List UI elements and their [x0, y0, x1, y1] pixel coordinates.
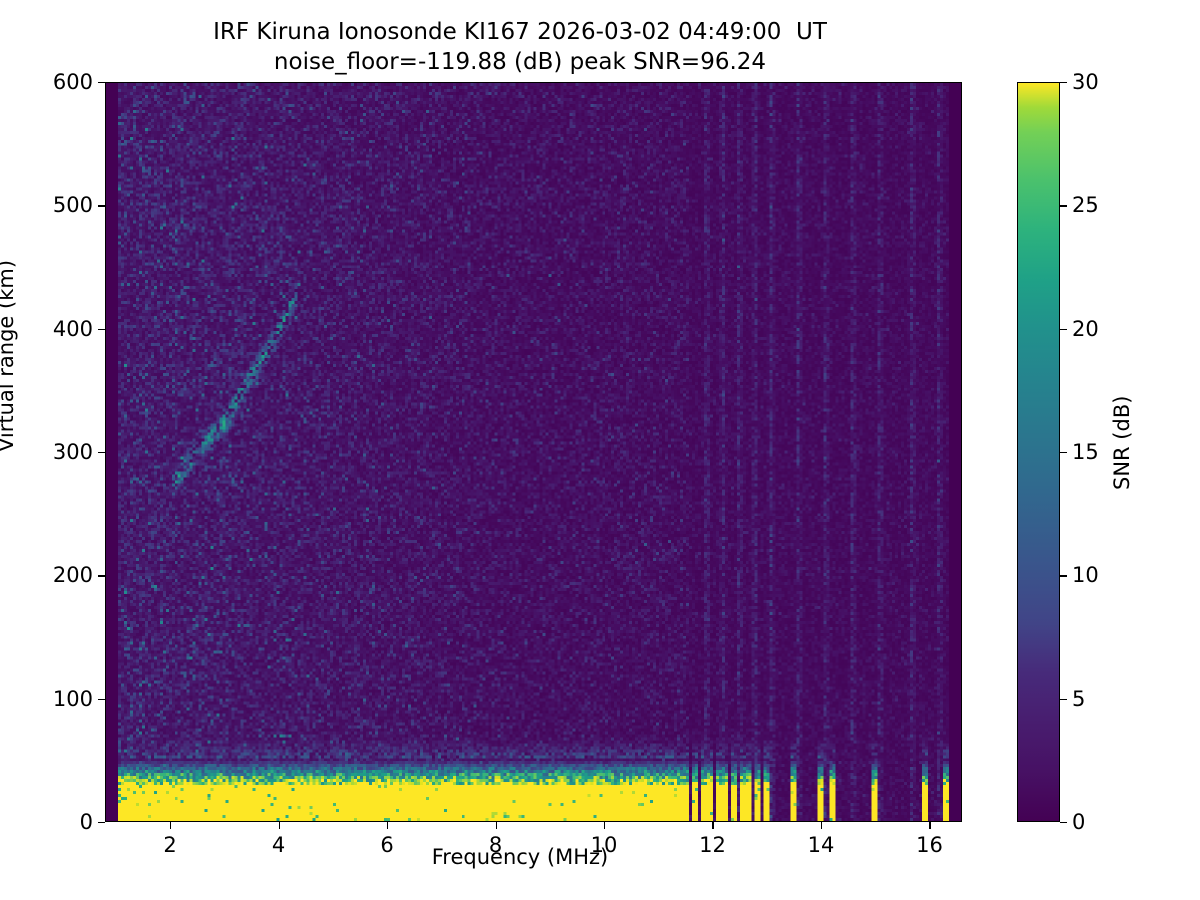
y-tick-label: 600: [53, 70, 93, 94]
colorbar: [1017, 82, 1060, 822]
y-tick-label: 500: [53, 193, 93, 217]
y-tick-mark: [98, 205, 105, 206]
chart-title-line-1: IRF Kiruna Ionosonde KI167 2026-03-02 04…: [0, 18, 1040, 48]
colorbar-tick-label: 25: [1072, 193, 1099, 217]
colorbar-tick-mark: [1060, 205, 1067, 206]
colorbar-tick-label: 5: [1072, 687, 1085, 711]
colorbar-tick-mark: [1060, 575, 1067, 576]
y-tick-label: 400: [53, 317, 93, 341]
y-tick-mark: [98, 575, 105, 576]
y-tick-label: 300: [53, 440, 93, 464]
chart-title-line-2: noise_floor=-119.88 (dB) peak SNR=96.24: [0, 48, 1040, 78]
colorbar-gradient: [1018, 83, 1059, 821]
y-tick-mark: [98, 452, 105, 453]
y-tick-mark: [98, 329, 105, 330]
x-tick-mark: [279, 822, 280, 829]
ionogram-plot-area: [105, 82, 962, 822]
x-tick-mark: [929, 822, 930, 829]
colorbar-tick-mark: [1060, 452, 1067, 453]
y-tick-mark: [98, 82, 105, 83]
colorbar-tick-label: 20: [1072, 317, 1099, 341]
colorbar-tick-label: 30: [1072, 70, 1099, 94]
y-tick-mark: [98, 699, 105, 700]
x-tick-mark: [712, 822, 713, 829]
x-tick-mark: [821, 822, 822, 829]
x-tick-mark: [604, 822, 605, 829]
x-axis-label: Frequency (MHz): [0, 845, 1040, 869]
chart-title: IRF Kiruna Ionosonde KI167 2026-03-02 04…: [0, 18, 1040, 78]
colorbar-tick-mark: [1060, 329, 1067, 330]
y-axis-label: Virtual range (km): [0, 260, 18, 452]
y-tick-label: 100: [53, 687, 93, 711]
y-tick-mark: [98, 822, 105, 823]
colorbar-tick-mark: [1060, 82, 1067, 83]
colorbar-label: SNR (dB): [1110, 396, 1134, 490]
colorbar-tick-label: 10: [1072, 563, 1099, 587]
x-tick-mark: [496, 822, 497, 829]
ionogram-heatmap: [106, 83, 961, 821]
colorbar-tick-mark: [1060, 822, 1067, 823]
colorbar-tick-label: 15: [1072, 440, 1099, 464]
y-tick-label: 0: [80, 810, 93, 834]
colorbar-tick-label: 0: [1072, 810, 1085, 834]
colorbar-tick-mark: [1060, 699, 1067, 700]
x-tick-mark: [387, 822, 388, 829]
y-tick-label: 200: [53, 563, 93, 587]
x-tick-mark: [170, 822, 171, 829]
